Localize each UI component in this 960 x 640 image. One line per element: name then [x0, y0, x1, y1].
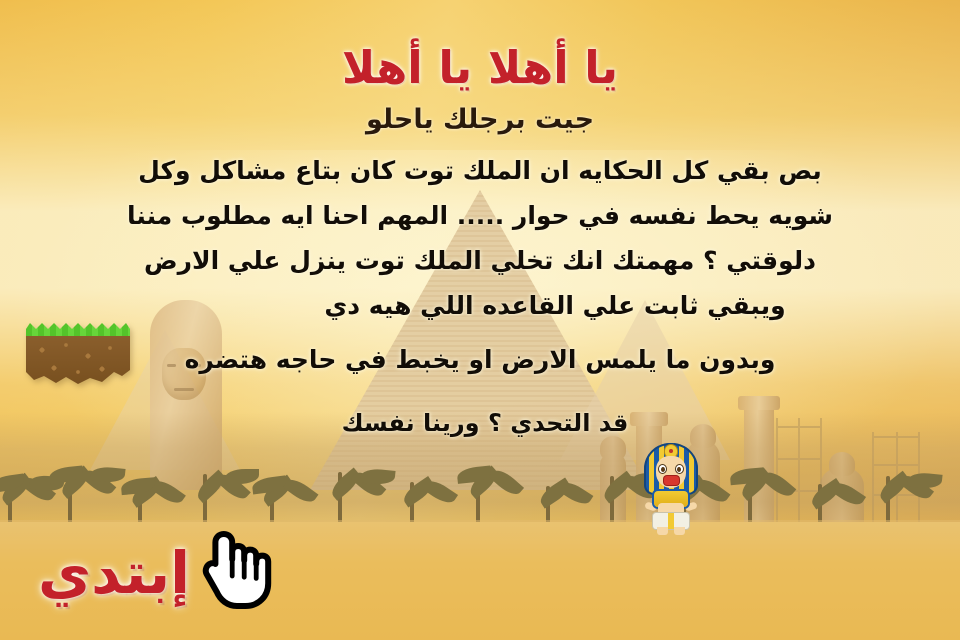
- start-button-label[interactable]: إبتدي: [34, 544, 194, 602]
- story-body: بص بقي كل الحكايه ان الملك توت كان بتاع …: [24, 152, 936, 448]
- game-intro-screen: يا أهلا يا أهلا جيت برجلك ياحلو بص بقي ك…: [0, 0, 960, 640]
- pointing-hand-cursor-icon[interactable]: [198, 528, 276, 612]
- story-line: قد التحدي ؟ ورينا نفسك: [24, 405, 936, 441]
- story-line: دلوقتي ؟ مهمتك انك تخلي الملك توت ينزل ع…: [24, 242, 936, 280]
- story-line: وبدون ما يلمس الارض او يخبط في حاجه هتضر…: [24, 341, 936, 379]
- page-title: يا أهلا يا أهلا: [0, 44, 960, 93]
- page-subtitle: جيت برجلك ياحلو: [0, 104, 960, 135]
- story-line: ويبقي ثابت علي القاعده اللي هيه دي: [24, 287, 936, 325]
- start-button[interactable]: إبتدي: [34, 528, 270, 618]
- story-line: شويه يحط نفسه في حوار ..... المهم احنا ا…: [24, 197, 936, 235]
- story-line: بص بقي كل الحكايه ان الملك توت كان بتاع …: [24, 152, 936, 190]
